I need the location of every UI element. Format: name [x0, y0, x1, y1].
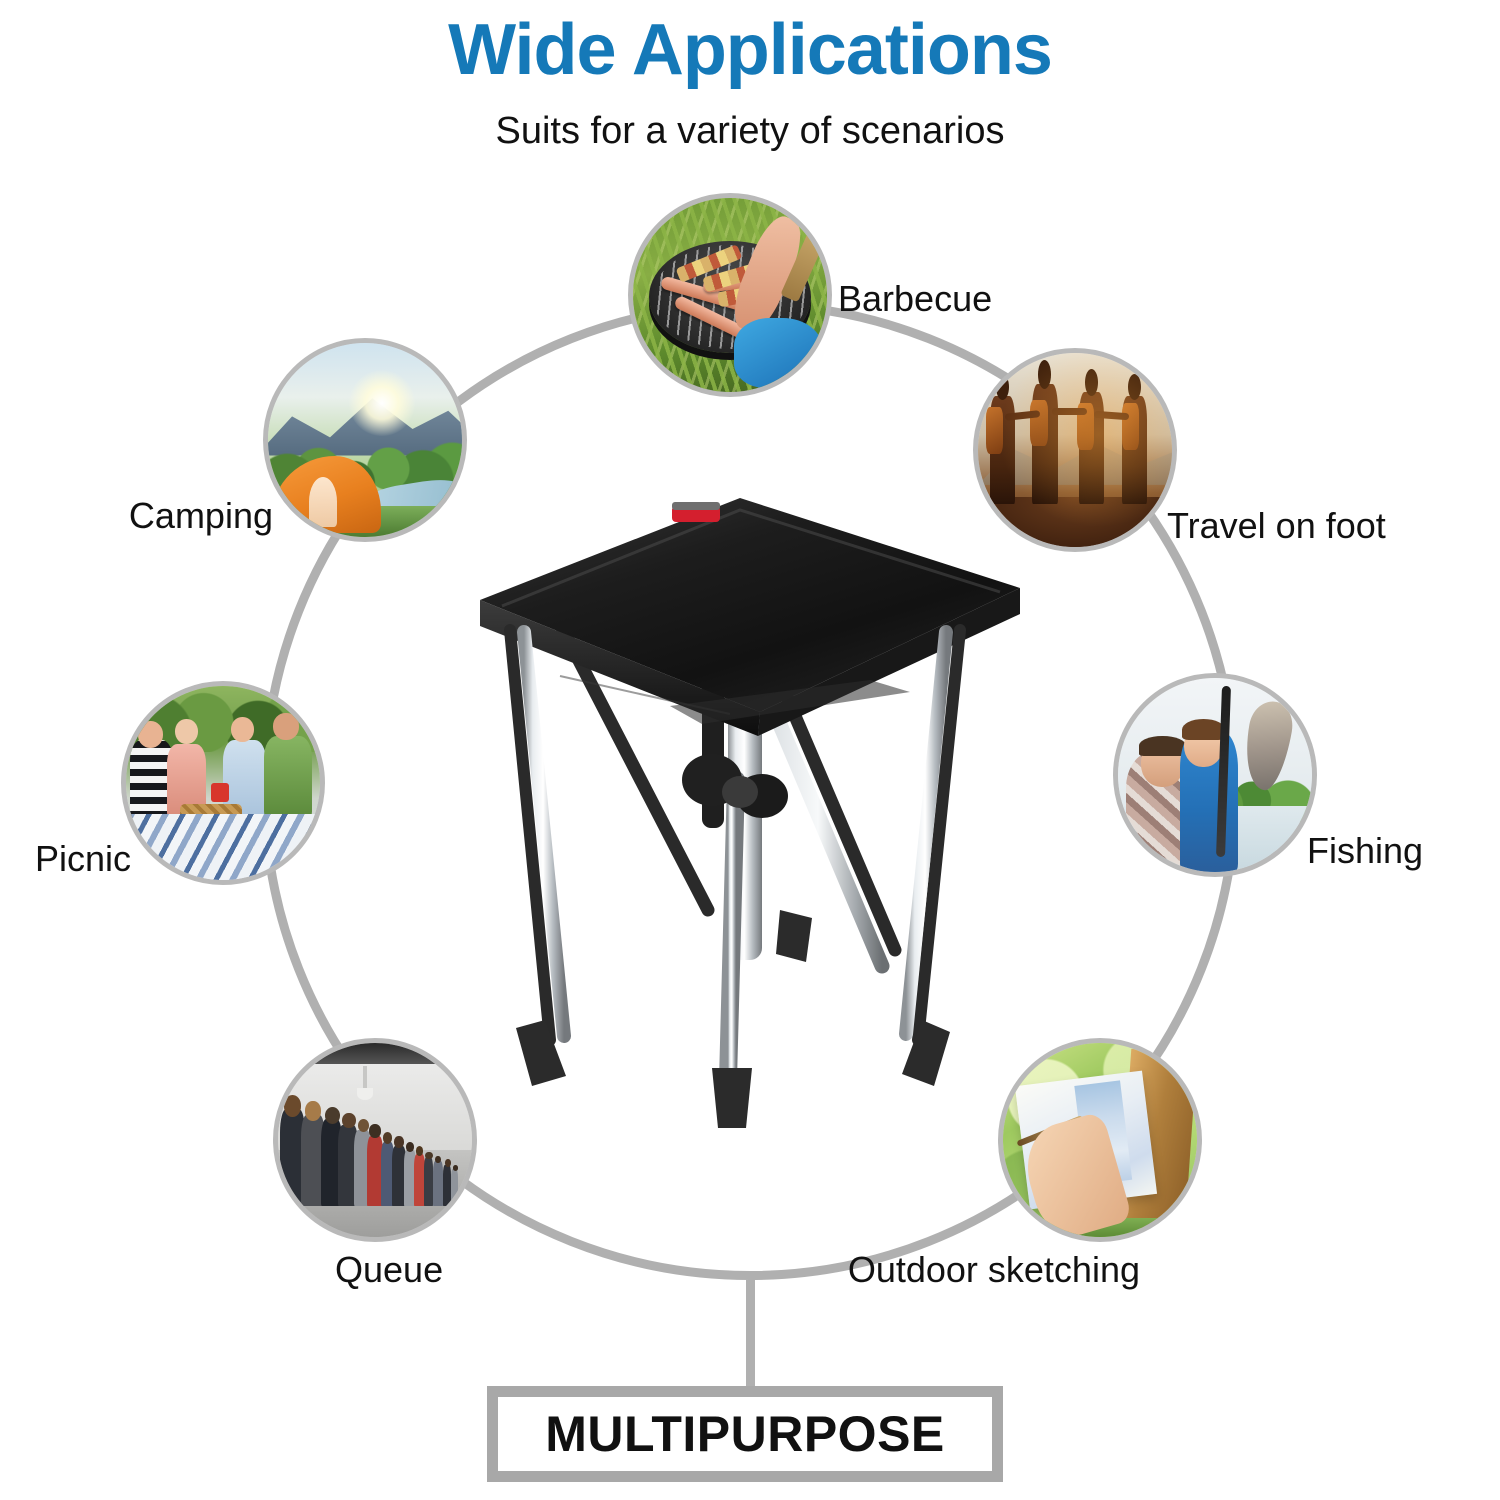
outdoor-sketching-photo — [1003, 1043, 1197, 1237]
connector-stem — [746, 1280, 755, 1390]
scenario-photo-travel-on-foot[interactable] — [973, 348, 1177, 552]
scenario-photo-barbecue[interactable] — [628, 193, 832, 397]
scenario-label-outdoor-sketching: Outdoor sketching — [848, 1252, 1140, 1288]
page-title: Wide Applications — [0, 14, 1500, 86]
stool-short-foot — [776, 910, 812, 962]
scenario-photo-outdoor-sketching[interactable] — [998, 1038, 1202, 1242]
product-image-folding-stool — [440, 480, 1060, 1140]
scenario-label-barbecue: Barbecue — [838, 281, 992, 317]
scenario-photo-camping[interactable] — [263, 338, 467, 542]
barbecue-photo — [633, 198, 827, 392]
scenario-label-camping: Camping — [129, 498, 273, 534]
scenario-label-queue: Queue — [335, 1252, 443, 1288]
stool-illustration — [440, 480, 1060, 1140]
multipurpose-badge: MULTIPURPOSE — [487, 1386, 1003, 1482]
queue-photo — [278, 1043, 472, 1237]
stool-leg-front-right — [902, 630, 960, 1086]
scenario-label-travel-on-foot: Travel on foot — [1167, 508, 1386, 544]
page-subtitle: Suits for a variety of scenarios — [0, 110, 1500, 153]
infographic-canvas: Wide Applications Suits for a variety of… — [0, 0, 1500, 1500]
fishing-photo — [1118, 678, 1312, 872]
scenario-photo-queue[interactable] — [273, 1038, 477, 1242]
stool-leg-front-left — [510, 630, 566, 1086]
multipurpose-label: MULTIPURPOSE — [545, 1405, 945, 1463]
scenario-photo-fishing[interactable] — [1113, 673, 1317, 877]
scenario-label-fishing: Fishing — [1307, 833, 1423, 869]
camping-photo — [268, 343, 462, 537]
scenario-label-picnic: Picnic — [35, 841, 131, 877]
stool-foot-center — [712, 1068, 752, 1128]
picnic-photo — [126, 686, 320, 880]
scenario-photo-picnic[interactable] — [121, 681, 325, 885]
travel-on-foot-photo — [978, 353, 1172, 547]
